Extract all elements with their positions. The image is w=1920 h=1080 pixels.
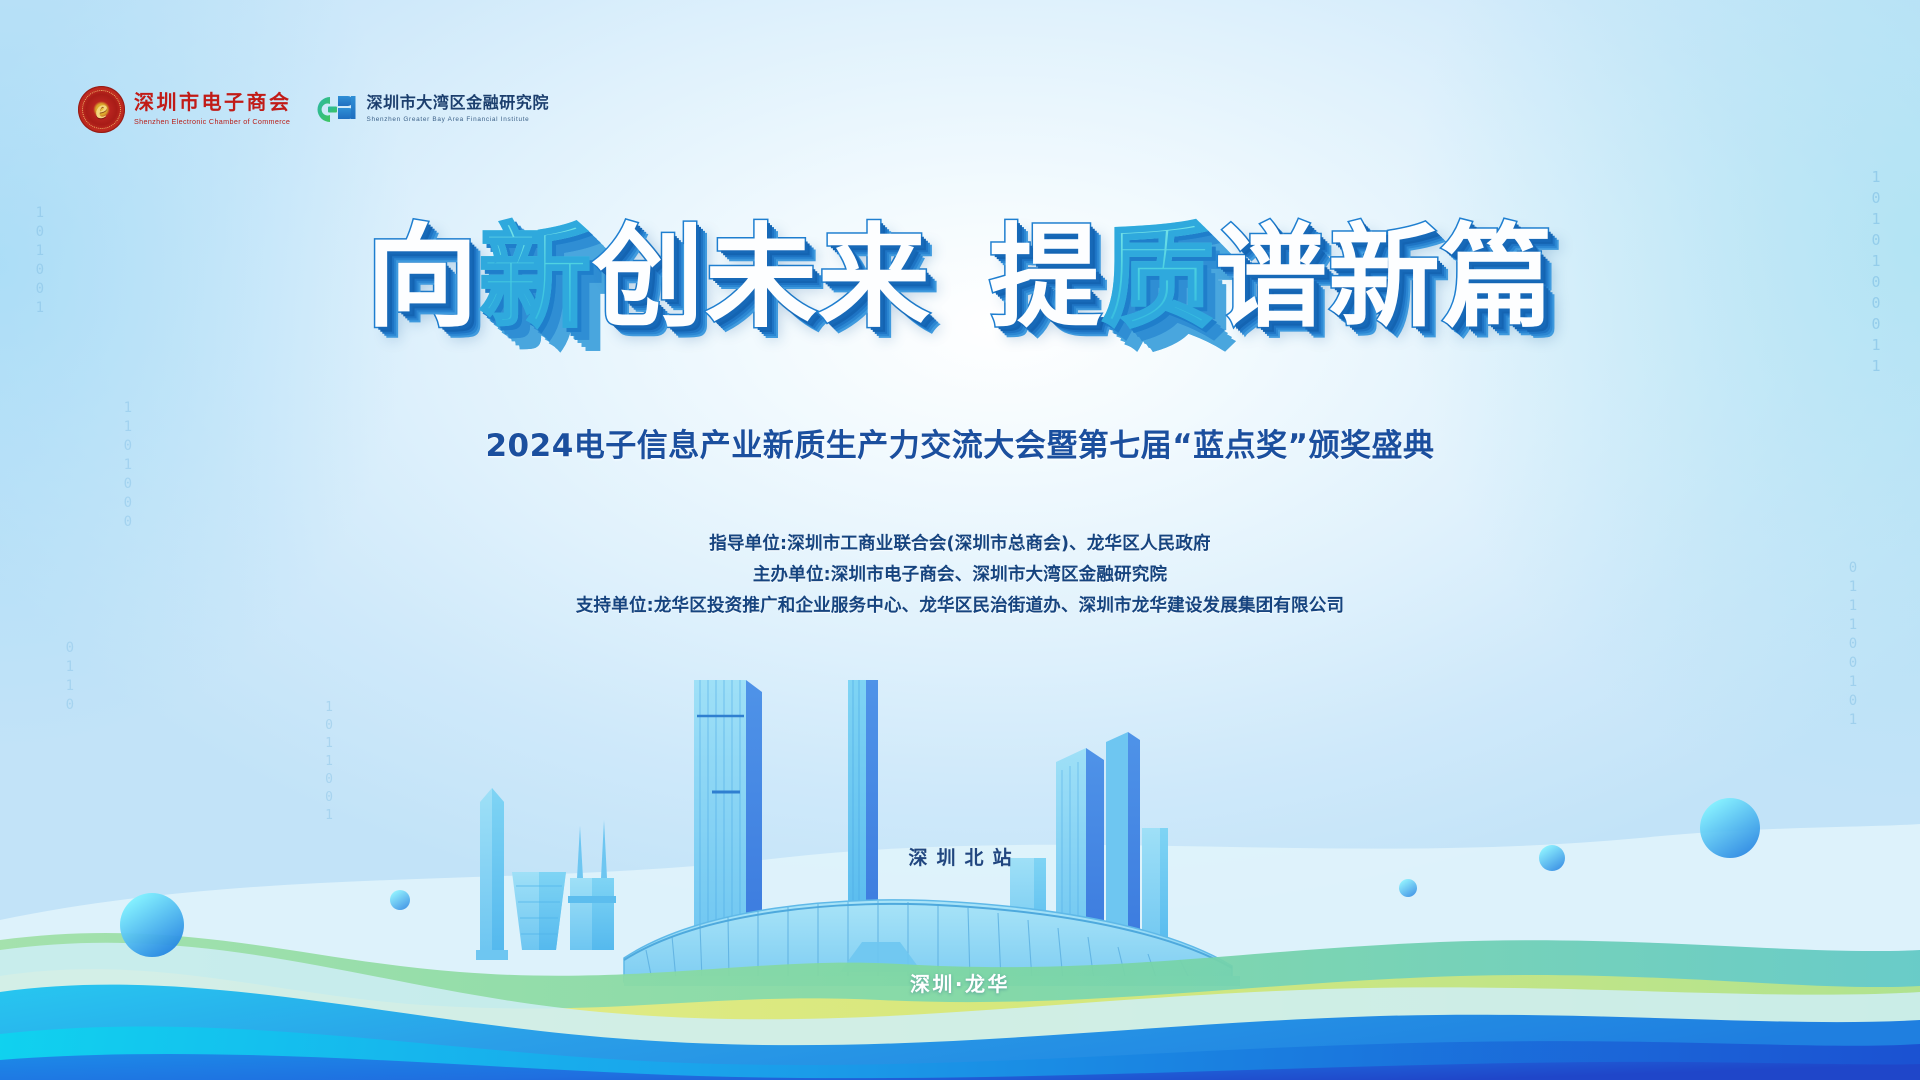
headline-char-8: 谱 [1215, 222, 1328, 334]
logo-2-name-cn: 深圳市大湾区金融研究院 [367, 95, 550, 113]
conference-poster: 1010100011 011100101 101001 1101000 0110… [0, 0, 1920, 1080]
chamber-seal-icon [78, 86, 125, 133]
logo-gbi-institute: 深圳市大湾区金融研究院 Shenzhen Greater Bay Area Fi… [314, 93, 550, 126]
decor-sphere-left-small [390, 890, 410, 910]
skyline-tower-main [694, 680, 762, 950]
headline-char-7: 质 [1102, 222, 1215, 334]
poster-subtitle: 2024电子信息产业新质生产力交流大会暨第七届“蓝点奖”颁奖盛典 [0, 420, 1920, 465]
city-label: 深圳·龙华 [0, 968, 1920, 997]
headline-char-4: 未 [705, 222, 818, 334]
logo-1-name-en: Shenzhen Electronic Chamber of Commerce [134, 117, 292, 126]
headline-char-2: 新 [479, 222, 592, 334]
gbi-logo-icon [314, 93, 358, 126]
org-line-guidance: 指导单位:深圳市工商业联合会(深圳市总商会)、龙华区人民政府 [0, 529, 1920, 560]
logo-shenzhen-electronic-chamber: 深圳市电子商会 Shenzhen Electronic Chamber of C… [78, 86, 292, 133]
headline-char-9: 新 [1328, 222, 1441, 334]
logo-2-name-en: Shenzhen Greater Bay Area Financial Inst… [367, 116, 550, 124]
headline-char-5: 来 [818, 222, 931, 334]
headline-char-6: 提 [989, 222, 1102, 334]
headline-char-10: 篇 [1441, 222, 1554, 334]
organization-list: 指导单位:深圳市工商业联合会(深圳市总商会)、龙华区人民政府 主办单位:深圳市电… [0, 529, 1920, 622]
decor-sphere-mid-small [1399, 879, 1417, 897]
station-label: 深圳北站 [0, 843, 1920, 870]
org-line-host: 主办单位:深圳市电子商会、深圳市大湾区金融研究院 [0, 560, 1920, 591]
decor-sphere-left [120, 893, 184, 957]
headline-char-1: 向 [366, 222, 479, 334]
org-line-support: 支持单位:龙华区投资推广和企业服务中心、龙华区民治街道办、深圳市龙华建设发展集团… [0, 591, 1920, 622]
logo-1-name-cn: 深圳市电子商会 [134, 92, 292, 115]
headline-char-3: 创 [592, 222, 705, 334]
poster-headline: 向新创未来提质谱新篇 [0, 222, 1920, 334]
logo-bar: 深圳市电子商会 Shenzhen Electronic Chamber of C… [78, 86, 549, 133]
